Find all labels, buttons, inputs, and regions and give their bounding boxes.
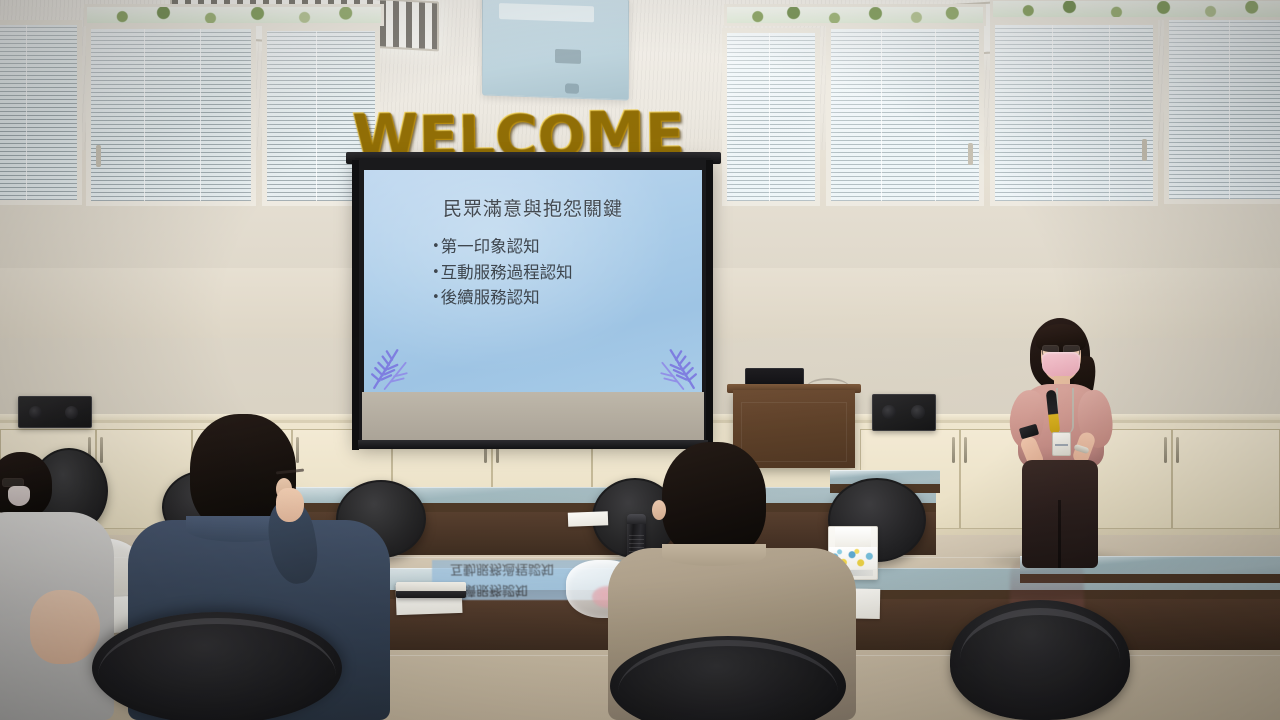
slide-bullet-item-3: •後續服務認知 (432, 285, 573, 311)
attendee-hand (276, 488, 304, 522)
podium-front-panel (741, 402, 847, 462)
window-handle[interactable] (968, 143, 973, 165)
attendee-head (662, 442, 766, 558)
screen-bottom-bar (358, 440, 708, 449)
face-mask (8, 486, 30, 506)
window-5 (826, 24, 984, 206)
blind-sheen (1169, 19, 1280, 199)
blind-sheen (831, 29, 979, 201)
window-foliage (727, 7, 983, 23)
blind-sheen (995, 25, 1153, 201)
presenter-trousers (1022, 460, 1098, 568)
slide-bullet-list: •第一印象認知 •互動服務過程認知 •後續服務認知 (432, 234, 573, 311)
attendee-ear (652, 500, 666, 520)
presenter (1000, 318, 1120, 570)
projected-slide: 民眾滿意與抱怨關鍵 •第一印象認知 •互動服務過程認知 •後續服務認知 (364, 170, 702, 392)
notebook[interactable] (396, 582, 466, 598)
face-mask (1042, 352, 1080, 378)
table-gloss (196, 487, 936, 503)
chair-foreground-right[interactable] (950, 600, 1130, 720)
blind-sheen (727, 33, 815, 201)
window-1 (0, 20, 82, 205)
window-4 (722, 28, 820, 206)
screen-tension-bar-right (706, 160, 713, 450)
slide-title: 民眾滿意與抱怨關鍵 (364, 194, 702, 221)
cabinet-handle[interactable] (296, 437, 299, 463)
bullet-marker-icon: • (432, 265, 440, 280)
window-7 (1164, 14, 1280, 204)
screen-tension-bar-left (352, 160, 359, 450)
blind-sheen (91, 29, 251, 201)
wall-speaker-right (872, 394, 936, 431)
slide-bullet-text: 第一印象認知 (441, 237, 540, 256)
window-6 (990, 20, 1158, 206)
fern-leaf-decoration-right (656, 344, 698, 390)
speaker-cone-icon (65, 406, 78, 419)
window-handle[interactable] (1142, 139, 1147, 161)
conference-room-photo: W E L C O M E 民眾滿意與抱怨關鍵 •第一印象認知 •互動服務過程認… (0, 0, 1280, 720)
cabinet-handle[interactable] (1164, 437, 1167, 463)
speaker-cone-icon (882, 405, 896, 419)
cabinet-door[interactable] (1172, 429, 1280, 529)
cabinet-handle[interactable] (964, 437, 967, 463)
shirt-collar (662, 544, 766, 566)
cabinet-handle[interactable] (952, 437, 955, 463)
id-badge (1052, 432, 1071, 456)
window-foliage (87, 7, 381, 23)
slide-bullet-text: 後續服務認知 (441, 288, 540, 307)
screen-lower-blank (362, 392, 704, 444)
transom-left (84, 4, 384, 26)
window-2 (86, 24, 256, 206)
blind-sheen (0, 25, 77, 200)
transom-right-2 (990, 0, 1280, 20)
window-foliage (993, 1, 1280, 17)
speaker-cone-icon (911, 405, 925, 419)
chair-foreground-left[interactable] (92, 612, 342, 720)
cabinet-handle[interactable] (100, 437, 103, 463)
table-mid-top (196, 487, 936, 512)
slide-bullet-item-1: •第一印象認知 (432, 234, 573, 260)
bullet-marker-icon: • (432, 239, 440, 254)
slide-bullet-item-2: •互動服務過程認知 (432, 260, 573, 286)
attendee-arm (30, 590, 100, 664)
speaker-cone-icon (29, 406, 42, 419)
slide-bullet-text: 互動服務過程認知 (441, 263, 573, 282)
cabinet-handle[interactable] (1176, 437, 1179, 463)
tissue-flap (835, 527, 871, 548)
window-handle[interactable] (96, 145, 101, 167)
fern-leaf-decoration-left (370, 344, 412, 390)
bullet-marker-icon: • (432, 290, 440, 305)
wall-speaker-left (18, 396, 92, 428)
papers[interactable] (568, 511, 608, 526)
transom-right-1 (724, 4, 986, 26)
